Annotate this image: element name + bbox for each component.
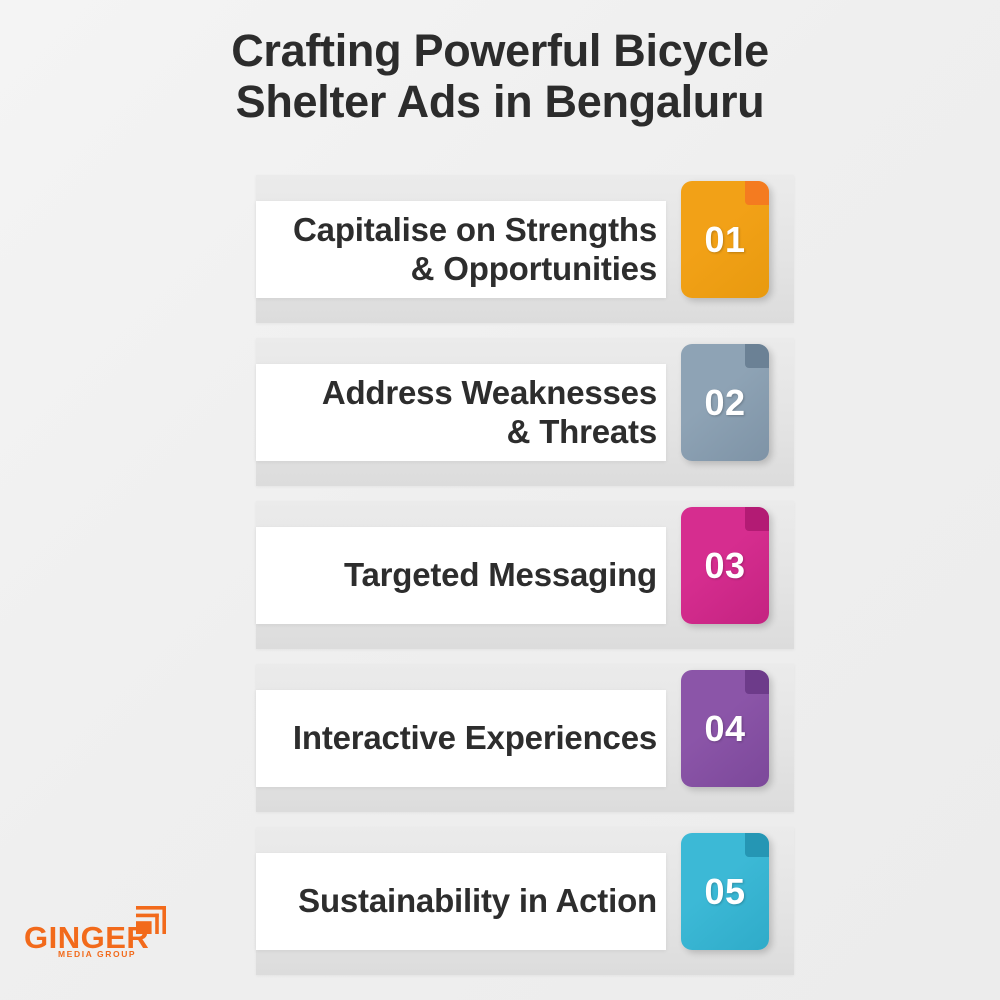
row-label-line-1: Address Weaknesses xyxy=(322,374,657,411)
row-text-card: Sustainability in Action xyxy=(256,853,666,950)
badge-number: 02 xyxy=(681,344,769,461)
number-badge[interactable]: 01 xyxy=(681,181,769,298)
title-line-2: Shelter Ads in Bengaluru xyxy=(0,77,1000,128)
number-badge[interactable]: 03 xyxy=(681,507,769,624)
number-badge[interactable]: 02 xyxy=(681,344,769,461)
row-label-line-1: Targeted Messaging xyxy=(344,556,657,593)
number-badge[interactable]: 04 xyxy=(681,670,769,787)
list-item[interactable]: Interactive Experiences 04 xyxy=(0,664,1000,827)
list-item[interactable]: Address Weaknesses & Threats 02 xyxy=(0,338,1000,501)
brand-logo[interactable]: GINGER MEDIA GROUP xyxy=(24,904,214,964)
row-text-card: Capitalise on Strengths & Opportunities xyxy=(256,201,666,298)
row-text-card: Interactive Experiences xyxy=(256,690,666,787)
list-item[interactable]: Targeted Messaging 03 xyxy=(0,501,1000,664)
row-label-line-2: & Opportunities xyxy=(411,250,657,287)
badge-number: 01 xyxy=(681,181,769,298)
row-label: Capitalise on Strengths & Opportunities xyxy=(293,211,666,288)
badge-number: 03 xyxy=(681,507,769,624)
page-title: Crafting Powerful Bicycle Shelter Ads in… xyxy=(0,26,1000,128)
row-label: Address Weaknesses & Threats xyxy=(322,374,666,451)
list-item[interactable]: Capitalise on Strengths & Opportunities … xyxy=(0,175,1000,338)
numbered-list: Capitalise on Strengths & Opportunities … xyxy=(0,175,1000,975)
number-badge[interactable]: 05 xyxy=(681,833,769,950)
row-label-line-1: Capitalise on Strengths xyxy=(293,211,657,248)
badge-number: 04 xyxy=(681,670,769,787)
row-label-line-1: Interactive Experiences xyxy=(293,719,657,756)
row-label: Targeted Messaging xyxy=(344,556,666,594)
row-label-line-2: & Threats xyxy=(507,413,657,450)
title-line-1: Crafting Powerful Bicycle xyxy=(0,26,1000,77)
row-label-line-1: Sustainability in Action xyxy=(298,882,657,919)
row-label: Sustainability in Action xyxy=(298,882,666,920)
row-text-card: Address Weaknesses & Threats xyxy=(256,364,666,461)
badge-number: 05 xyxy=(681,833,769,950)
row-text-card: Targeted Messaging xyxy=(256,527,666,624)
nested-squares-icon xyxy=(132,904,168,938)
row-label: Interactive Experiences xyxy=(293,719,666,757)
logo-subtitle: MEDIA GROUP xyxy=(58,949,136,959)
